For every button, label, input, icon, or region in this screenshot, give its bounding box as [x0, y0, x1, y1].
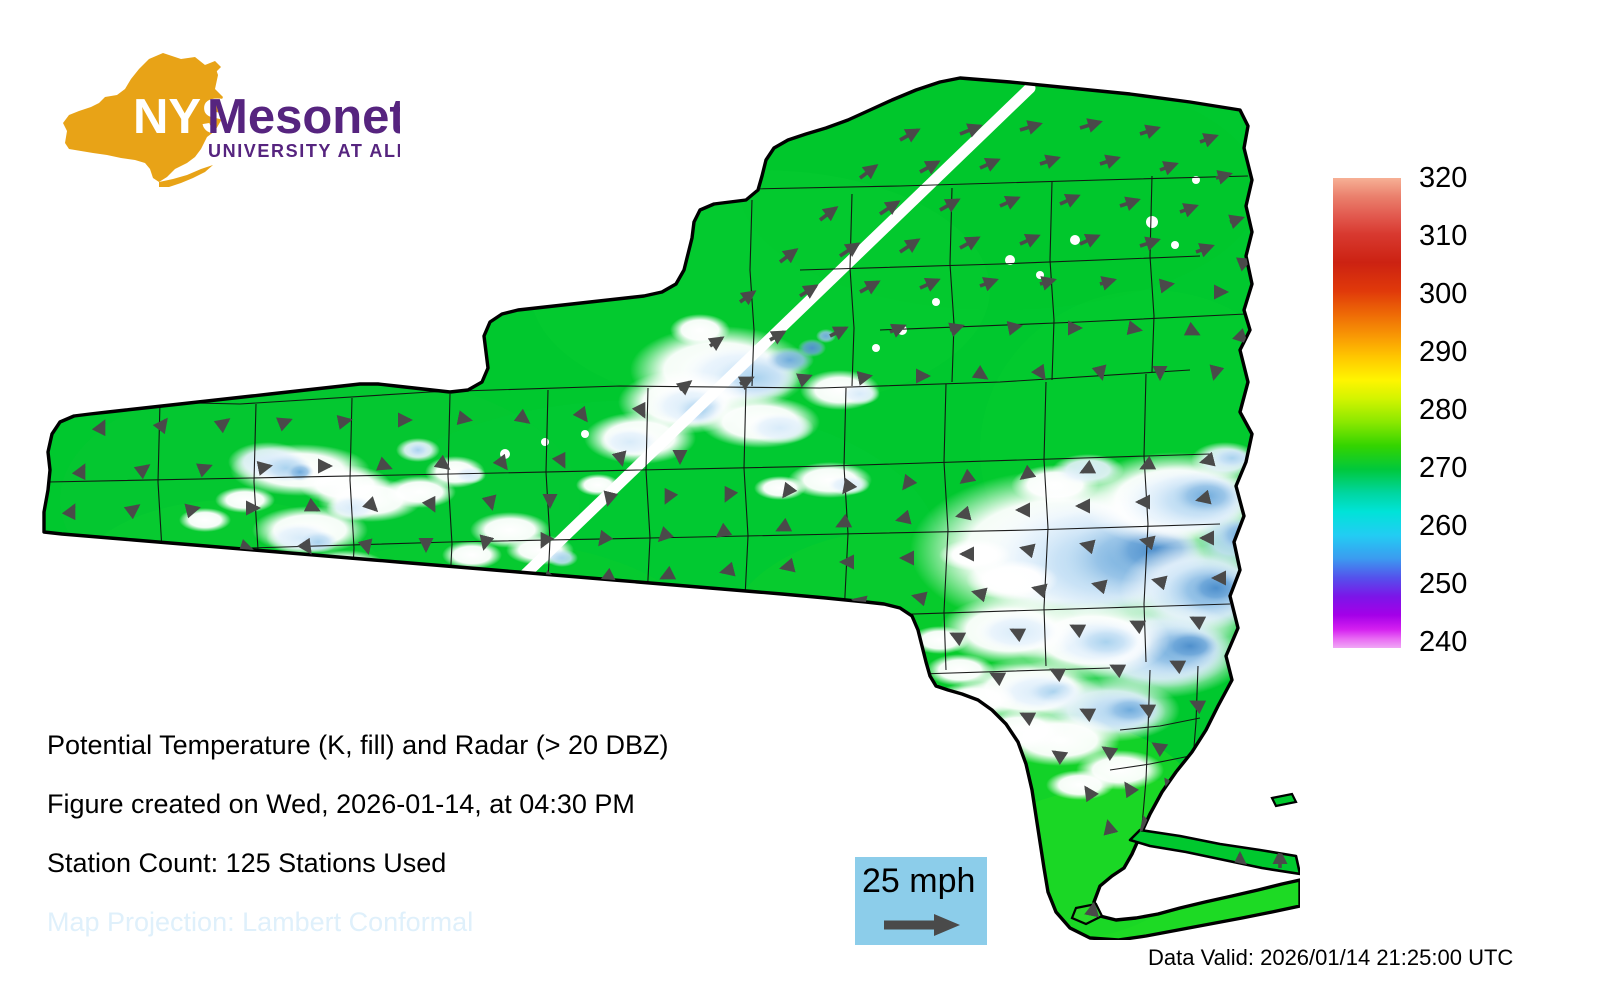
colorbar-tick-300: 300 — [1419, 280, 1467, 309]
caption-created-line: Figure created on Wed, 2026-01-14, at 04… — [47, 775, 947, 834]
data-valid-timestamp: Data Valid: 2026/01/14 21:25:00 UTC — [1148, 946, 1513, 970]
colorbar-tick-260: 260 — [1419, 512, 1467, 541]
caption-station-line: Station Count: 125 Stations Used — [47, 834, 947, 893]
colorbar-gradient-strip — [1333, 178, 1401, 648]
colorbar-tick-320: 320 — [1419, 164, 1467, 193]
wind-speed-legend: 25 mph — [855, 857, 987, 945]
caption-projection-line: Map Projection: Lambert Conformal — [47, 893, 947, 952]
radar-cell-group-eastern — [910, 442, 1280, 800]
colorbar-tick-310: 310 — [1419, 222, 1467, 251]
wind-legend-label: 25 mph — [862, 862, 975, 900]
colorbar-tick-280: 280 — [1419, 396, 1467, 425]
wind-reference-arrow-icon — [882, 912, 962, 938]
colorbar-tick-290: 290 — [1419, 338, 1467, 367]
figure-caption: Potential Temperature (K, fill) and Rada… — [47, 716, 947, 952]
caption-title-line: Potential Temperature (K, fill) and Rada… — [47, 716, 947, 775]
colorbar: 320 310 300 290 280 270 260 250 240 — [1333, 178, 1583, 658]
colorbar-tick-270: 270 — [1419, 454, 1467, 483]
colorbar-tick-250: 250 — [1419, 570, 1467, 599]
colorbar-tick-240: 240 — [1419, 628, 1467, 657]
